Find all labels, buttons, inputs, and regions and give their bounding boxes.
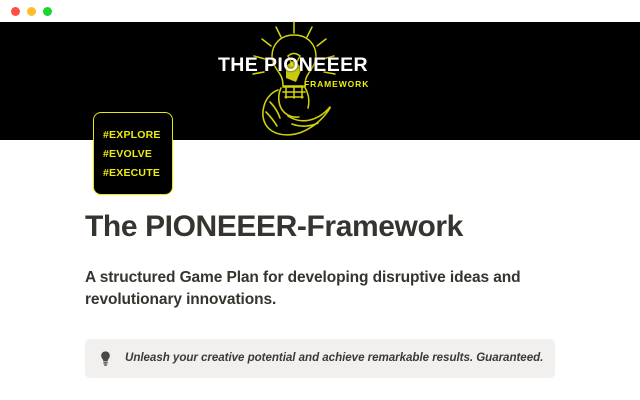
minimize-button[interactable] — [27, 7, 36, 16]
hashtag-evolve: #EVOLVE — [103, 145, 172, 164]
lightbulb-icon — [99, 351, 112, 366]
hashtag-execute: #EXECUTE — [103, 164, 172, 183]
brand-wordmark-main: THE PIONEEER — [218, 56, 368, 76]
body-paragraph: The PIONEEER Framework empowers you to u… — [85, 378, 555, 400]
window-controls — [11, 7, 52, 16]
callout-text: Unleash your creative potential and achi… — [125, 351, 543, 365]
brand-wordmark-sub: FRAMEWORK — [304, 80, 368, 89]
hashtag-card: #EXPLORE #EVOLVE #EXECUTE — [93, 112, 173, 195]
brand-logo: THE PIONEEER FRAMEWORK — [218, 20, 368, 140]
maximize-button[interactable] — [43, 7, 52, 16]
hashtag-explore: #EXPLORE — [103, 126, 172, 145]
page-lede: A structured Game Plan for developing di… — [85, 243, 535, 312]
brand-wordmark: THE PIONEEER FRAMEWORK — [218, 56, 368, 88]
callout-box: Unleash your creative potential and achi… — [85, 339, 555, 378]
window-titlebar — [0, 0, 640, 22]
browser-window: THE PIONEEER FRAMEWORK #EXPLORE #EVOLVE … — [0, 0, 640, 400]
hero-banner: THE PIONEEER FRAMEWORK #EXPLORE #EVOLVE … — [0, 22, 640, 140]
close-button[interactable] — [11, 7, 20, 16]
